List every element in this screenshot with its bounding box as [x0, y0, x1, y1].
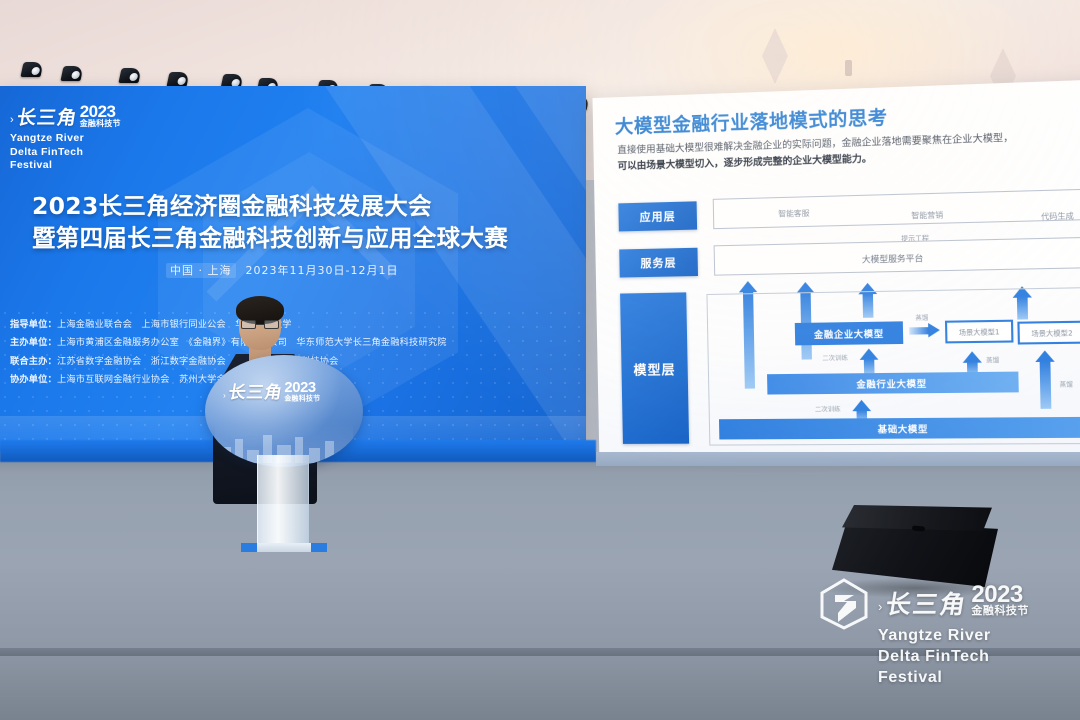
scene-model-2: 场景大模型2	[1017, 321, 1080, 345]
organizer-key: 协办单位：	[10, 374, 57, 385]
organizer-key: 联合主办：	[10, 356, 57, 367]
watermark-subtitle-cn: 金融科技节	[971, 606, 1029, 617]
stage-light	[118, 68, 141, 83]
up-arrow-shaft	[1040, 361, 1052, 409]
enterprise-model-box: 金融企业大模型	[795, 321, 903, 345]
layer-chip-model: 模型层	[620, 292, 689, 444]
stage-light	[20, 62, 43, 77]
podium-logo-panel: › 长三角 2023 金融科技节	[205, 355, 363, 467]
secondary-training-note: 二次训练	[815, 404, 841, 413]
logo-en-line2: Delta FinTech	[10, 146, 121, 159]
watermark-chinese-name: 长三角	[884, 592, 969, 617]
watermark-en-line3: Festival	[878, 667, 1029, 688]
speaker-glasses	[241, 320, 279, 329]
right-arrow-shaft	[909, 327, 928, 334]
secondary-training-note: 二次训练	[822, 353, 848, 363]
industry-model-bar: 金融行业大模型	[767, 372, 1019, 395]
service-platform-label: 大模型服务平台	[862, 252, 924, 266]
conference-stage-photo: › 长三角 2023 金融科技节 Yangtze River Delta Fin…	[0, 0, 1080, 720]
podium-brand-logo: › 长三角 2023 金融科技节	[223, 381, 320, 402]
logo-en-line3: Festival	[10, 159, 121, 172]
layer-chip-service: 服务层	[619, 248, 698, 278]
stage-monitor-speaker	[828, 505, 1002, 589]
podium-logo-chinese: 长三角	[227, 385, 284, 402]
podium-logo-year: 2023	[284, 381, 315, 395]
corner-watermark: › 长三角 2023 金融科技节 Yangtze River Delta Fin…	[818, 578, 1078, 710]
base-model-bar: 基础大模型	[719, 417, 1080, 440]
watermark-year: 2023	[971, 584, 1022, 606]
organizer-key: 主办单位：	[10, 337, 57, 348]
application-item-2: 智能营销	[911, 209, 943, 221]
right-arrow-head	[928, 323, 940, 338]
organizer-key: 指导单位：	[10, 319, 57, 330]
conference-title-line1: 2023长三角经济圈金融科技发展大会	[32, 192, 432, 220]
conference-dates: 2023年11月30日-12月1日	[246, 264, 399, 277]
logo-arrow-icon: ›	[10, 115, 14, 128]
podium-stem	[257, 455, 309, 547]
stage-light	[60, 66, 83, 81]
logo-year: 2023	[80, 104, 116, 120]
festival-mark-icon	[818, 578, 870, 630]
stage-light	[166, 72, 189, 87]
watermark-en-line1: Yangtze River	[878, 625, 1029, 646]
wall-vent	[845, 60, 852, 76]
logo-subtitle-cn: 金融科技节	[80, 120, 121, 128]
watermark-arrow-icon: ›	[878, 599, 882, 617]
backdrop-brand-logo: › 长三角 2023 金融科技节 Yangtze River Delta Fin…	[10, 104, 121, 172]
distill-note: 蒸馏	[915, 313, 928, 322]
podium-base-accent-right	[311, 543, 327, 552]
podium-logo-arrow-icon: ›	[223, 392, 226, 402]
application-layer-box	[713, 189, 1080, 229]
podium-logo-subtitle: 金融科技节	[284, 395, 320, 402]
logo-chinese-name: 长三角	[15, 109, 78, 128]
distill-note: 蒸馏	[986, 355, 999, 364]
watermark-text-block: › 长三角 2023 金融科技节 Yangtze River Delta Fin…	[878, 584, 1029, 688]
podium-base-accent-left	[241, 543, 257, 552]
conference-location: 中国 · 上海	[166, 263, 236, 278]
screen-base-strip	[596, 452, 1080, 466]
scene-model-1: 场景大模型1	[945, 320, 1014, 344]
conference-datetime: 中国 · 上海2023年11月30日-12月1日	[166, 262, 398, 278]
conference-title-line2: 暨第四届长三角金融科技创新与应用全球大赛	[32, 222, 556, 254]
speaker-podium: › 长三角 2023 金融科技节	[205, 355, 375, 560]
conference-title: 2023长三角经济圈金融科技发展大会 暨第四届长三角金融科技创新与应用全球大赛	[32, 190, 556, 255]
presentation-screen: 大模型金融行业落地模式的思考 直接使用基础大模型很难解决金融企业的实际问题，金融…	[592, 79, 1080, 466]
application-item-3: 代码生成	[1041, 210, 1074, 222]
distill-note: 蒸馏	[1059, 379, 1073, 389]
application-item-1: 智能客服	[778, 207, 809, 219]
watermark-en-line2: Delta FinTech	[878, 646, 1029, 667]
layer-chip-application: 应用层	[618, 201, 697, 231]
logo-en-line1: Yangtze River	[10, 132, 121, 145]
slide-title: 大模型金融行业落地模式的思考	[615, 104, 888, 140]
